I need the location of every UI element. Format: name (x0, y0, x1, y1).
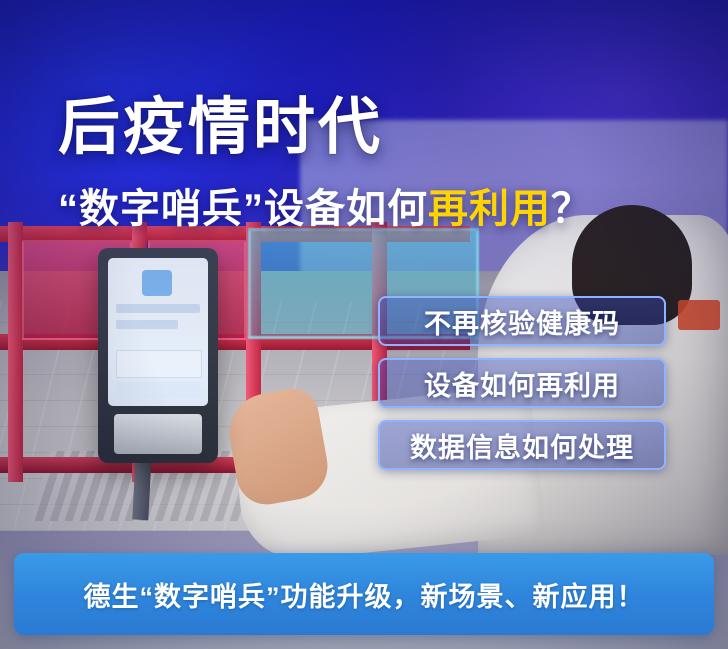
bottom-banner-label: 德生“数字哨兵”功能升级，新场景、新应用！ (84, 575, 645, 614)
highlight-chip-2: 设备如何再利用 (378, 358, 666, 408)
highlight-chip-list: 不再核验健康码 设备如何再利用 数据信息如何处理 (378, 296, 666, 482)
highlight-chip-3: 数据信息如何处理 (378, 420, 666, 470)
page-title: 后疫情时代 (58, 76, 383, 166)
subtitle-highlight: 再利用 (428, 187, 551, 231)
highlight-chip-1-label: 不再核验健康码 (424, 302, 620, 341)
page-subtitle: “数字哨兵”设备如何再利用？ (58, 176, 592, 234)
poster-image: 后疫情时代 “数字哨兵”设备如何再利用？ 不再核验健康码 设备如何再利用 数据信… (0, 0, 728, 649)
highlight-chip-1: 不再核验健康码 (378, 296, 666, 346)
subtitle-suffix: ？ (551, 187, 592, 231)
highlight-chip-2-label: 设备如何再利用 (424, 364, 620, 403)
subtitle-prefix: “数字哨兵”设备如何 (58, 187, 428, 231)
bottom-banner: 德生“数字哨兵”功能升级，新场景、新应用！ (14, 553, 714, 635)
highlight-chip-3-label: 数据信息如何处理 (410, 426, 634, 465)
